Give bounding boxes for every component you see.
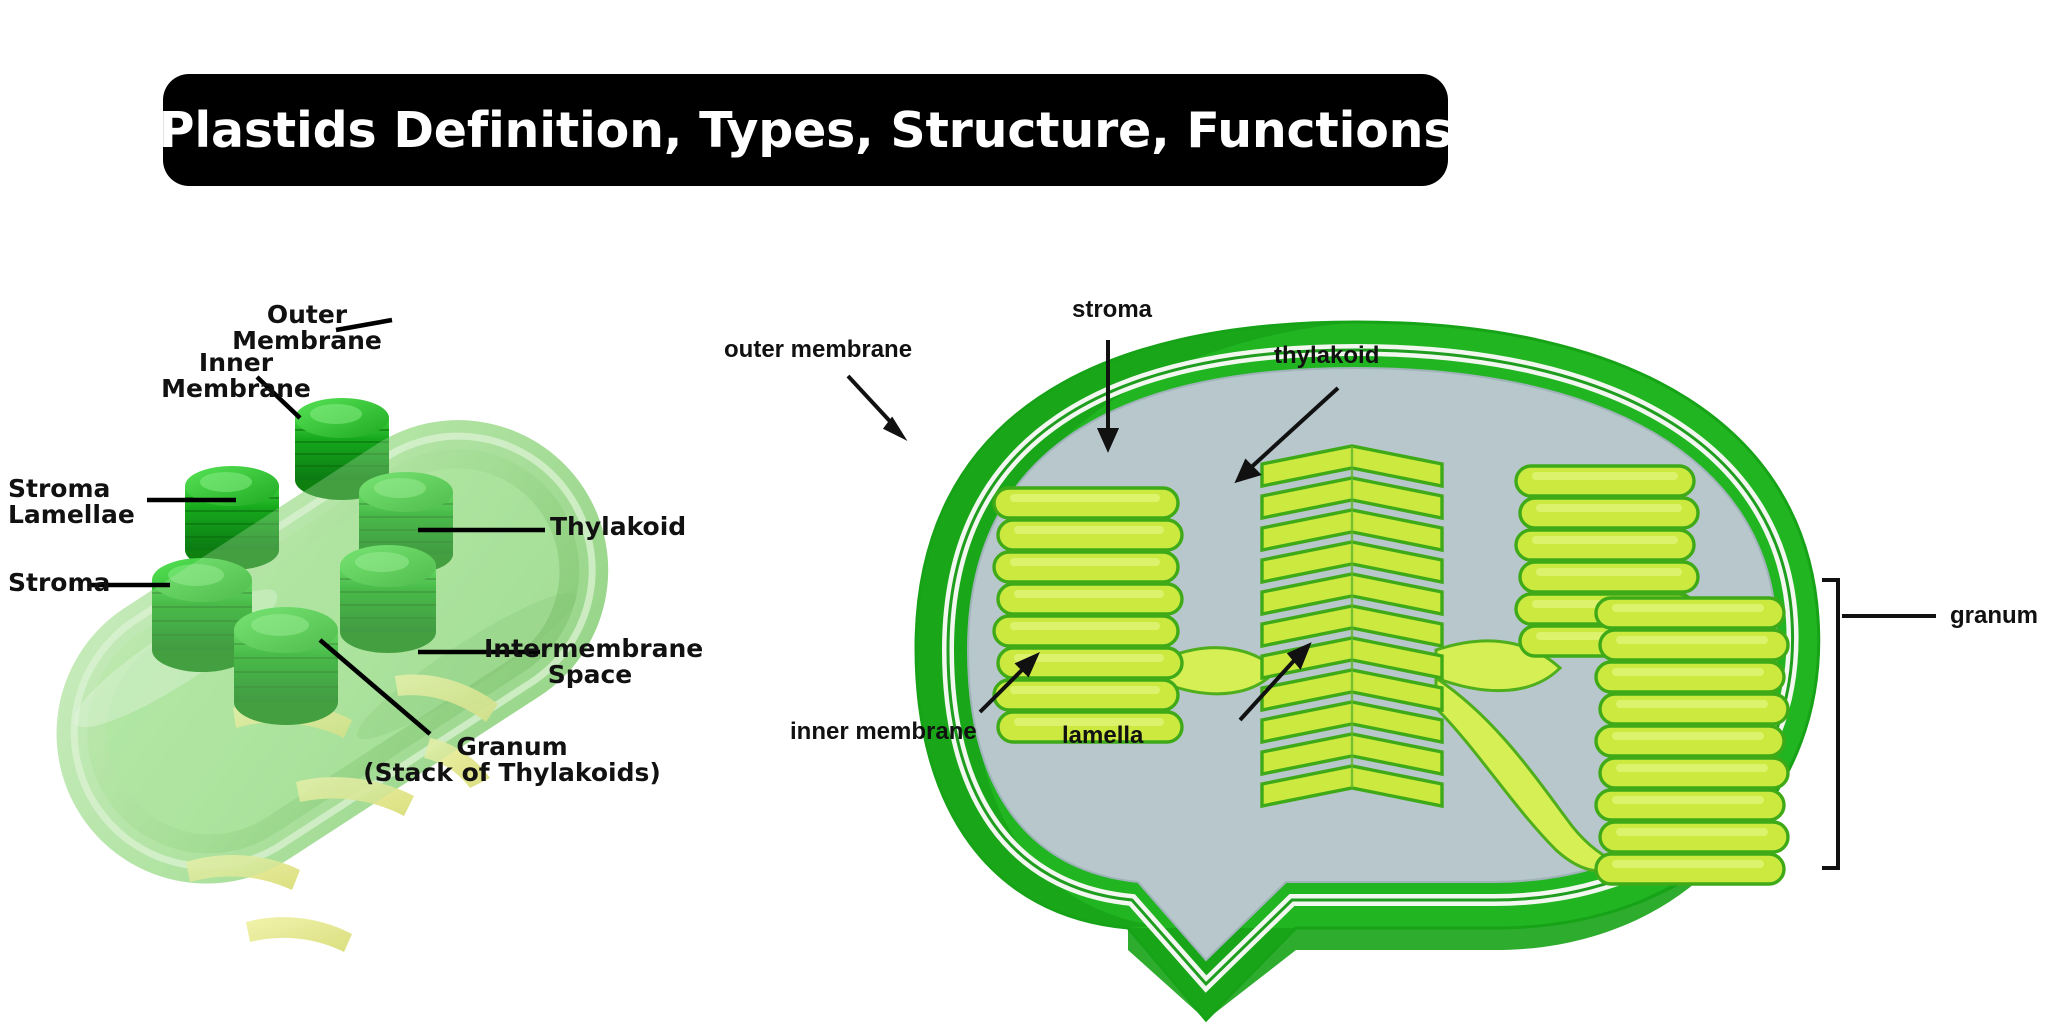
page-title-banner: Plastids Definition, Types, Structure, F… <box>163 74 1448 186</box>
label-thylakoid: thylakoid <box>1274 342 1379 370</box>
granum-stack <box>994 488 1182 742</box>
label-outer-membrane: Outer Membrane <box>222 302 392 353</box>
label-granum: granum <box>1950 602 2038 630</box>
right-diagram-panel: outer membrane stroma thylakoid granum i… <box>680 272 2048 1024</box>
label-stroma: stroma <box>1072 296 1152 324</box>
label-outer-membrane: outer membrane <box>724 336 912 364</box>
page-root: Plastids Definition, Types, Structure, F… <box>0 0 2048 1024</box>
label-inner-membrane: Inner Membrane <box>148 350 324 401</box>
label-thylakoid: Thylakoid <box>550 514 686 540</box>
left-diagram-panel: Outer Membrane Inner Membrane Stroma Lam… <box>0 272 672 1024</box>
label-granum: Granum (Stack of Thylakoids) <box>352 734 672 785</box>
page-title: Plastids Definition, Types, Structure, F… <box>159 102 1453 159</box>
label-lamella: lamella <box>1062 722 1143 750</box>
label-stroma-lamellae: Stroma Lamellae <box>8 476 148 527</box>
granum-bracket <box>1822 580 1838 868</box>
granum-stack <box>1262 446 1442 806</box>
label-intermembrane-space: Intermembrane Space <box>484 636 696 687</box>
granum-stack <box>1596 598 1788 884</box>
label-inner-membrane: inner membrane <box>790 718 977 746</box>
label-stroma: Stroma <box>8 570 110 596</box>
chloroplast-2d-graphic <box>680 272 2048 1024</box>
